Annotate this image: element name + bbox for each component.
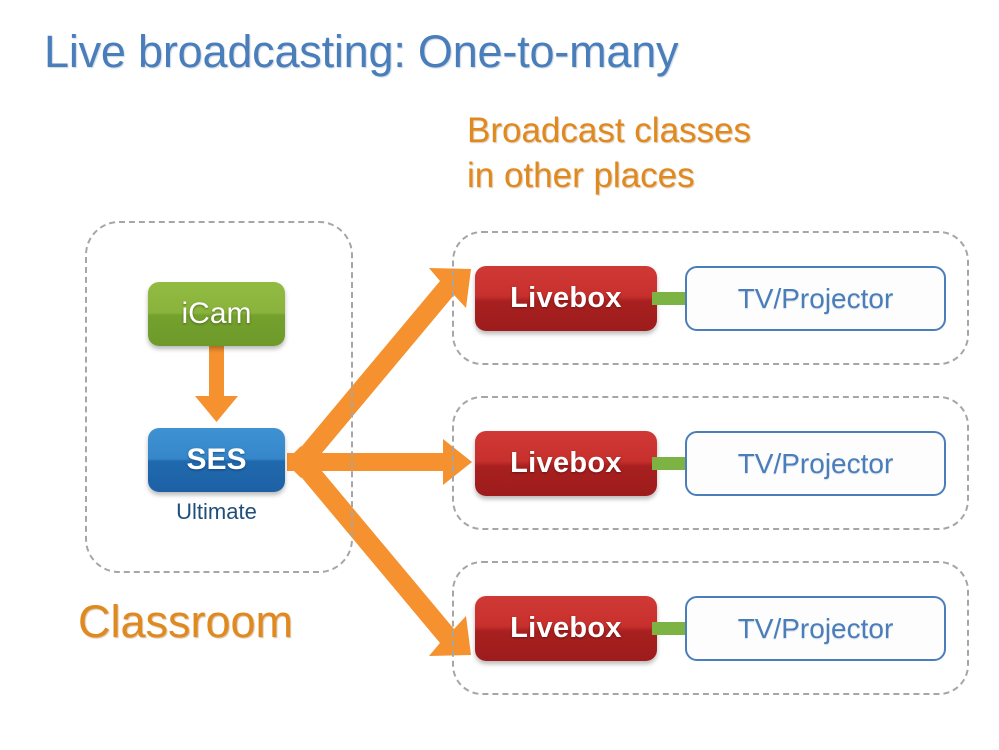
node-tv-projector-2[interactable]: TV/Projector (685, 431, 946, 496)
node-ses-sublabel: Ultimate (148, 499, 285, 525)
node-ses[interactable]: SES (148, 428, 285, 492)
node-livebox-1-label: Livebox (510, 282, 622, 315)
node-tv-projector-2-label: TV/Projector (738, 448, 894, 480)
node-tv-projector-3-label: TV/Projector (738, 613, 894, 645)
slide-title: Live broadcasting: One-to-many (44, 26, 678, 78)
node-livebox-3[interactable]: Livebox (475, 596, 657, 661)
node-livebox-2-label: Livebox (510, 447, 622, 480)
node-tv-projector-1[interactable]: TV/Projector (685, 266, 946, 331)
slide-canvas: Live broadcasting: One-to-many Broadcast… (0, 0, 999, 750)
node-tv-projector-1-label: TV/Projector (738, 283, 894, 315)
node-livebox-3-label: Livebox (510, 612, 622, 645)
node-livebox-1[interactable]: Livebox (475, 266, 657, 331)
node-icam[interactable]: iCam (148, 282, 285, 346)
node-livebox-2[interactable]: Livebox (475, 431, 657, 496)
connector-livebox-tv-2 (652, 457, 689, 470)
classroom-label: Classroom (78, 596, 293, 648)
node-icam-label: iCam (181, 297, 251, 331)
connector-livebox-tv-3 (652, 622, 689, 635)
node-tv-projector-3[interactable]: TV/Projector (685, 596, 946, 661)
node-ses-label: SES (186, 443, 246, 477)
broadcast-heading: Broadcast classes in other places (467, 108, 751, 198)
connector-livebox-tv-1 (652, 292, 689, 305)
